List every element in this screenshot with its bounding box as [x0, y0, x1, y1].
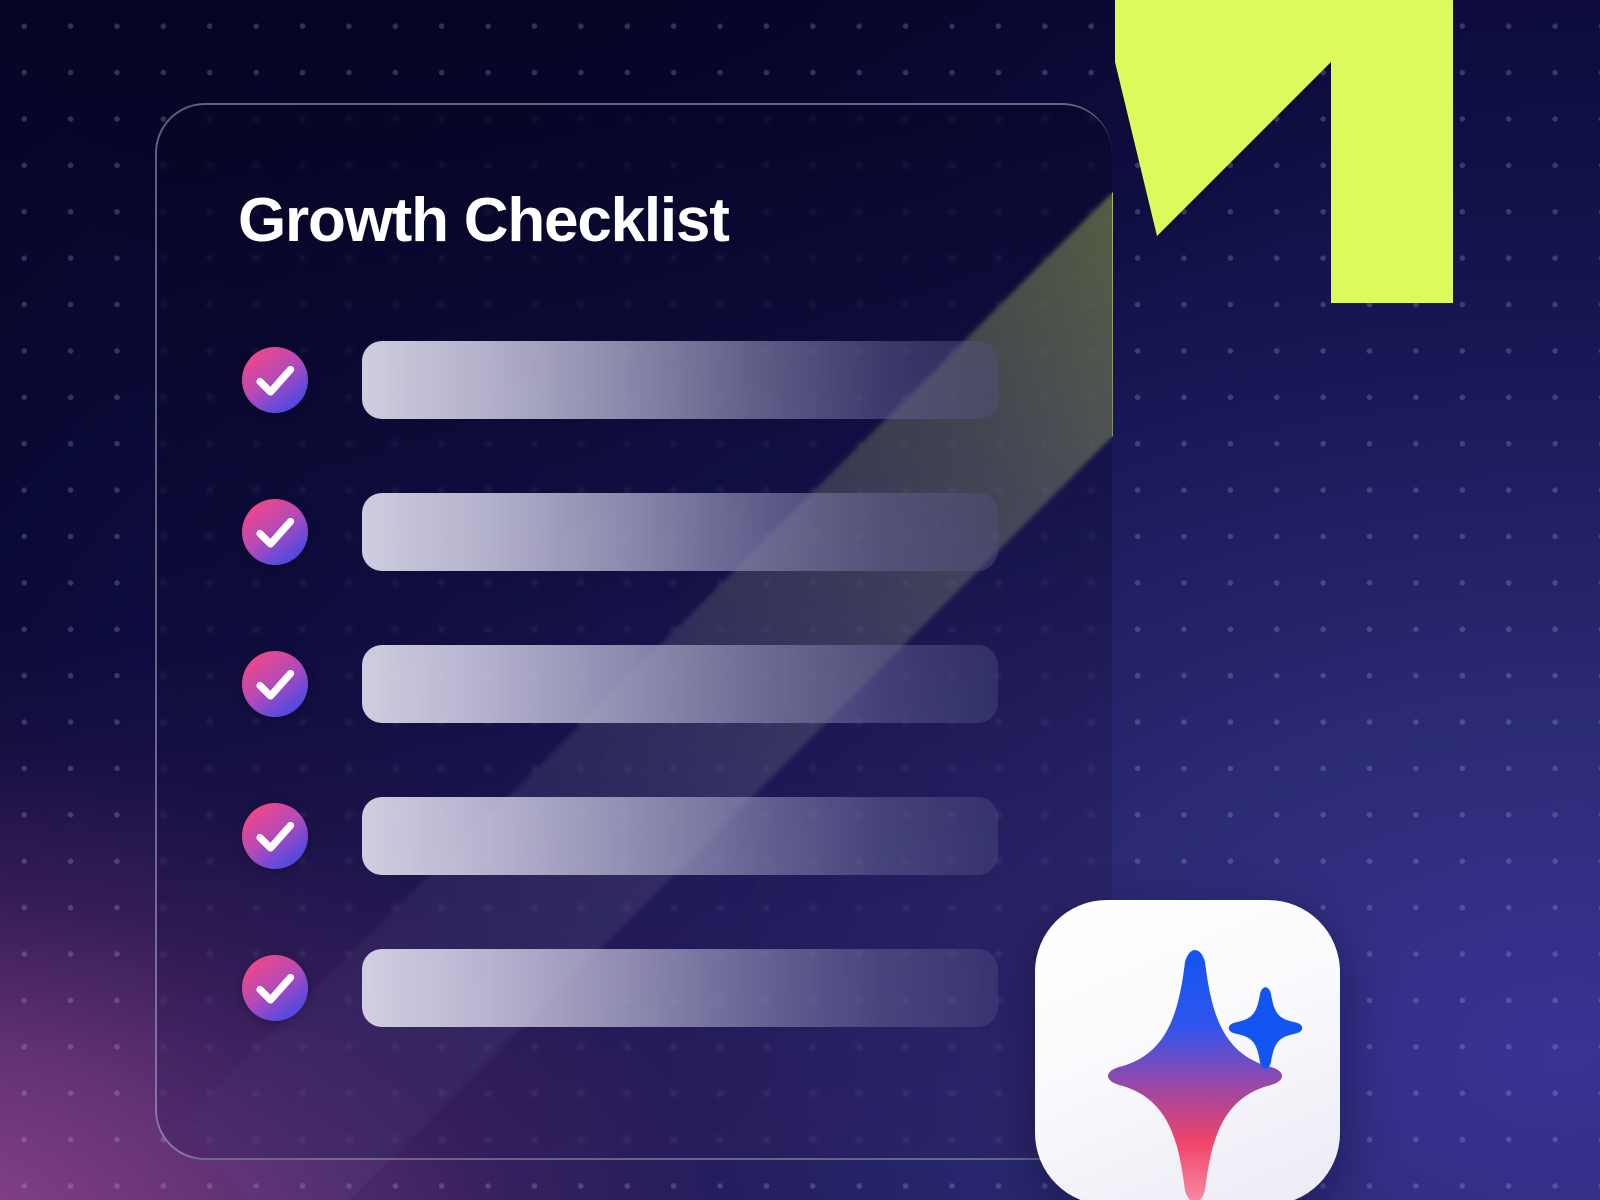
checkmark-icon	[242, 955, 308, 1021]
checkmark-icon	[242, 803, 308, 869]
list-item-placeholder-bar	[362, 797, 998, 875]
checkmark-icon	[242, 499, 308, 565]
check-circle-icon[interactable]	[242, 347, 308, 413]
list-item-placeholder-bar	[362, 645, 998, 723]
sparkle-ai-icon	[1035, 900, 1340, 1200]
check-circle-icon[interactable]	[242, 651, 308, 717]
check-circle-icon[interactable]	[242, 955, 308, 1021]
sparkle-tile[interactable]	[1035, 900, 1340, 1200]
list-item[interactable]	[242, 797, 1098, 875]
list-item-placeholder-bar	[362, 949, 998, 1027]
checkmark-icon	[242, 347, 308, 413]
poster-canvas: Growth Checklist	[0, 0, 1600, 1200]
list-item-placeholder-bar	[362, 341, 998, 419]
checkmark-icon	[242, 651, 308, 717]
list-item[interactable]	[242, 341, 1098, 419]
list-item[interactable]	[242, 645, 1098, 723]
check-circle-icon[interactable]	[242, 499, 308, 565]
list-item[interactable]	[242, 949, 1098, 1027]
checklist-card: Growth Checklist	[155, 103, 1112, 1160]
list-item[interactable]	[242, 493, 1098, 571]
check-circle-icon[interactable]	[242, 803, 308, 869]
list-item-placeholder-bar	[362, 493, 998, 571]
page-title: Growth Checklist	[238, 185, 729, 256]
